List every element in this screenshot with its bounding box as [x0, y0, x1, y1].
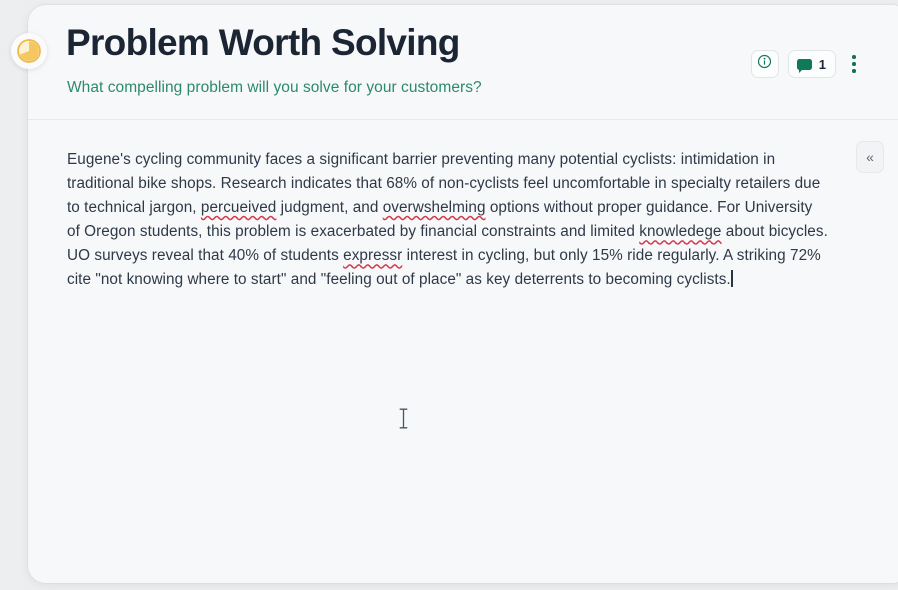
info-circle-icon	[757, 54, 772, 74]
kebab-dot	[852, 62, 856, 66]
misspelled-word: percueived	[201, 199, 276, 216]
misspelled-word: knowledege	[639, 223, 721, 240]
comment-count: 1	[819, 58, 826, 71]
info-button[interactable]	[751, 50, 779, 78]
card-body: Eugene's cycling community faces a signi…	[28, 120, 898, 583]
editor-textarea[interactable]: Eugene's cycling community faces a signi…	[67, 148, 829, 293]
page-subtitle: What compelling problem will you solve f…	[67, 79, 482, 97]
text-caret	[731, 270, 732, 287]
header-actions: 1	[751, 49, 863, 79]
kebab-dot	[852, 69, 856, 73]
misspelled-word: expressr	[343, 247, 402, 264]
comment-button[interactable]: 1	[788, 50, 836, 78]
kebab-dot	[852, 55, 856, 59]
editor-text-run: judgment, and	[276, 199, 382, 216]
sidebar-collapse-button[interactable]: «	[856, 141, 884, 173]
card-header: Problem Worth Solving What compelling pr…	[28, 5, 898, 120]
text-ibeam-cursor	[399, 408, 408, 429]
content-card: Problem Worth Solving What compelling pr…	[28, 5, 898, 583]
page-title: Problem Worth Solving	[66, 22, 460, 64]
comment-bubble-icon	[797, 59, 812, 70]
pie-progress-icon	[11, 33, 47, 69]
misspelled-word: overwshelming	[383, 199, 486, 216]
kebab-menu-icon[interactable]	[845, 49, 863, 79]
chevron-double-left-icon: «	[866, 150, 874, 164]
